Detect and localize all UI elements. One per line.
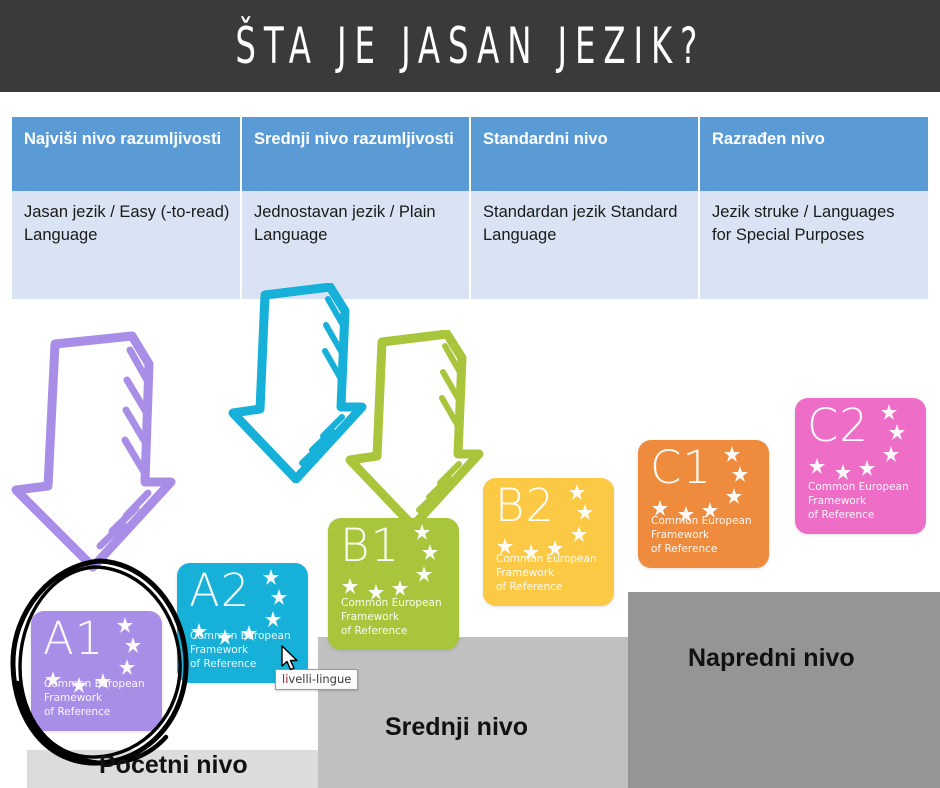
subtitle-line-3: of Reference xyxy=(651,543,752,557)
subtitle-line-2: Framework xyxy=(190,644,291,658)
cefr-card-b1[interactable]: B1 Common European Framework of Referenc… xyxy=(328,518,459,650)
subtitle-line-2: Framework xyxy=(341,611,442,625)
step-label-beginner: Početni nivo xyxy=(99,751,248,780)
page-header-bar: ŠTA JE JASAN JEZIK? xyxy=(0,0,940,92)
table-header-cell-3: Standardni nivo xyxy=(470,117,699,191)
step-label-advanced: Napredni nivo xyxy=(688,644,855,673)
page-title: ŠTA JE JASAN JEZIK? xyxy=(235,17,705,75)
language-levels-table: Najviši nivo razumljivosti Srednji nivo … xyxy=(12,117,928,299)
subtitle-line-2: Framework xyxy=(808,495,909,509)
mouse-pointer-icon xyxy=(281,645,301,673)
table-header-row: Najviši nivo razumljivosti Srednji nivo … xyxy=(12,117,928,191)
eu-stars-icon xyxy=(803,402,913,488)
cefr-card-subtitle: Common European Framework of Reference xyxy=(190,630,291,672)
step-label-intermediate: Srednji nivo xyxy=(385,713,528,742)
table-body-cell-4: Jezik struke / Languages for Special Pur… xyxy=(699,191,928,299)
table-row: Jasan jezik / Easy (-to-read) Language J… xyxy=(12,191,928,299)
subtitle-line-1: Common European xyxy=(190,630,291,644)
handdrawn-highlight-circle xyxy=(8,555,198,770)
cefr-card-c2[interactable]: C2 Common European Framework of Referenc… xyxy=(795,398,926,534)
table-header-cell-1: Najviši nivo razumljivosti xyxy=(12,117,241,191)
subtitle-line-1: Common European xyxy=(808,481,909,495)
subtitle-line-3: of Reference xyxy=(496,581,597,595)
subtitle-line-1: Common European xyxy=(496,553,597,567)
table-header-cell-4: Razrađen nivo xyxy=(699,117,928,191)
cefr-card-subtitle: Common European Framework of Reference xyxy=(651,515,752,557)
stair-step-advanced xyxy=(628,592,940,788)
cefr-card-subtitle: Common European Framework of Reference xyxy=(496,553,597,595)
cefr-card-c1[interactable]: C1 Common European Framework of Referenc… xyxy=(638,440,769,568)
cefr-card-subtitle: Common European Framework of Reference xyxy=(808,481,909,523)
cefr-card-subtitle: Common European Framework of Reference xyxy=(341,597,442,639)
cefr-card-b2[interactable]: B2 Common European Framework of Referenc… xyxy=(483,478,614,606)
subtitle-line-3: of Reference xyxy=(808,509,909,523)
subtitle-line-3: of Reference xyxy=(341,625,442,639)
table-header-cell-2: Srednji nivo razumljivosti xyxy=(241,117,470,191)
subtitle-line-2: Framework xyxy=(651,529,752,543)
subtitle-line-1: Common European xyxy=(651,515,752,529)
table-body-cell-3: Standardan jezik Standard Language xyxy=(470,191,699,299)
subtitle-line-1: Common European xyxy=(341,597,442,611)
purple-down-arrow xyxy=(8,330,184,575)
subtitle-line-2: Framework xyxy=(496,567,597,581)
table-body-cell-1: Jasan jezik / Easy (-to-read) Language xyxy=(12,191,241,299)
tooltip-rest: velli-lingue xyxy=(288,672,351,686)
eu-stars-icon xyxy=(336,522,446,608)
green-down-arrow xyxy=(345,330,485,530)
